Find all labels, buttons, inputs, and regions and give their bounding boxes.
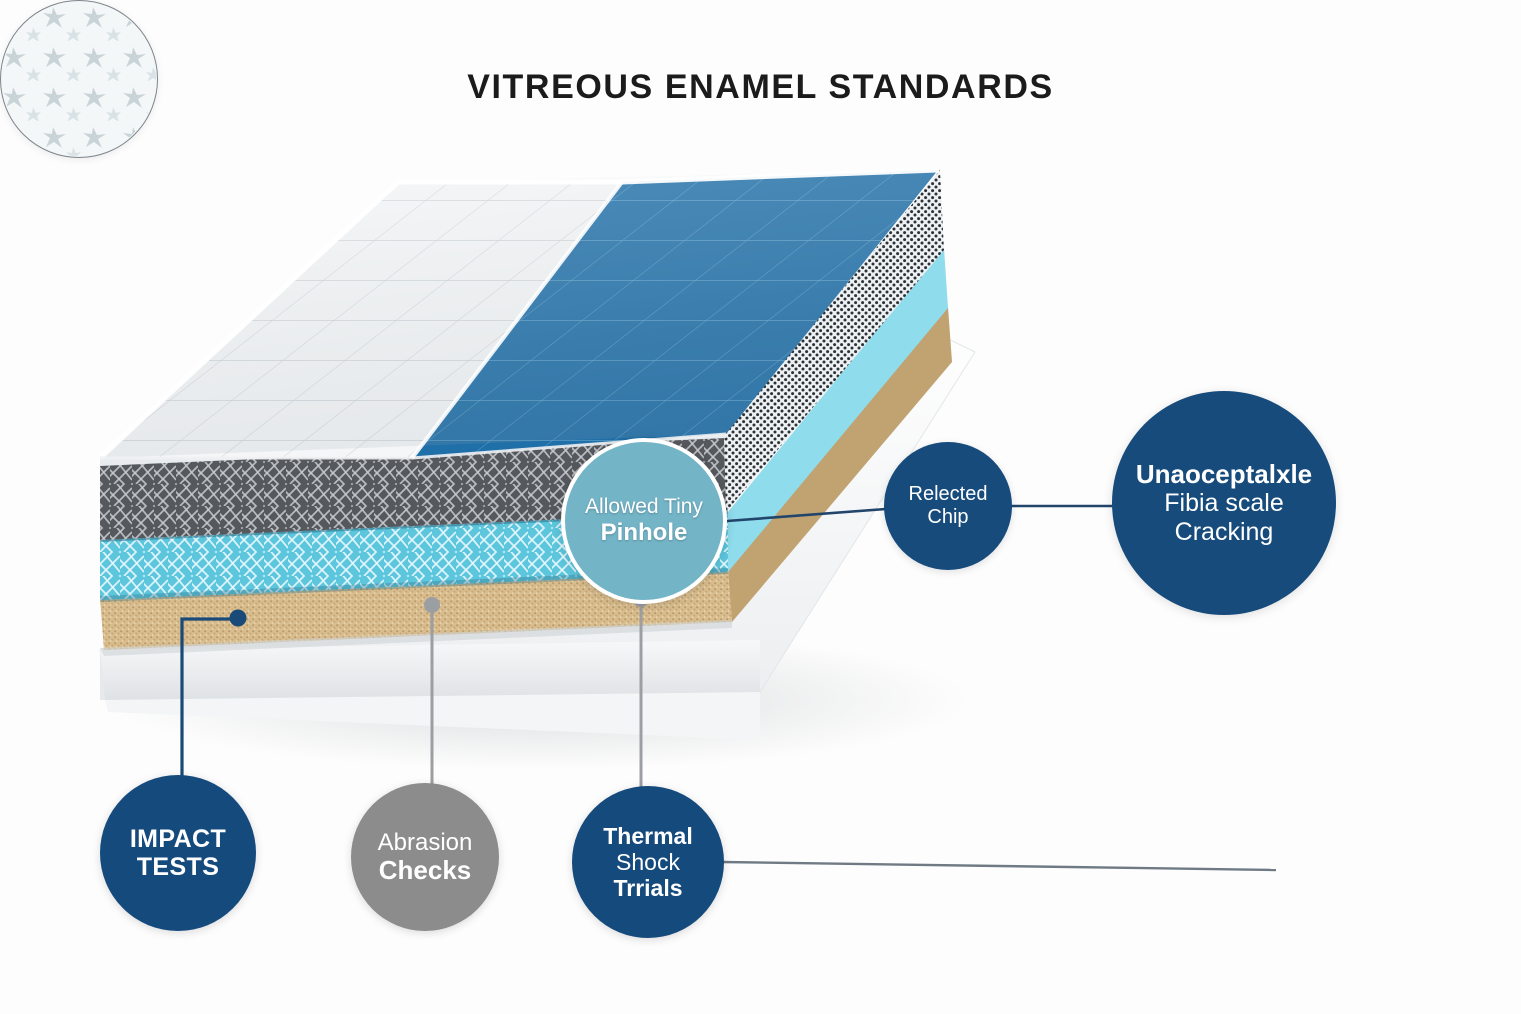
callout-line: Allowed Tiny	[585, 495, 703, 519]
leader-dot-impact	[230, 610, 247, 627]
callout-line: TESTS	[137, 853, 220, 882]
callout-rejected-chip[interactable]: Relected Chip	[884, 442, 1012, 570]
callout-line: Fibia scale	[1164, 489, 1284, 518]
callout-line: Abrasion	[378, 829, 473, 856]
callout-line: Relected	[909, 483, 988, 506]
leader-dot-abrasion	[424, 597, 440, 613]
callout-unacceptable-fish-scale-cracking[interactable]: Unaoceptalxle Fibia scale Cracking	[1112, 391, 1336, 615]
callout-line: Cracking	[1175, 518, 1274, 547]
callout-thermal-shock-trials[interactable]: Thermal Shock Trrials	[572, 786, 724, 938]
callout-line: Thermal	[603, 823, 692, 849]
callout-abrasion-checks[interactable]: Abrasion Checks	[351, 783, 499, 931]
callout-line: Trrials	[613, 875, 682, 901]
callout-line: Pinhole	[601, 519, 688, 546]
infographic-canvas: VITREOUS ENAMEL STANDARDS	[0, 0, 1521, 1014]
callout-line: Shock	[616, 849, 680, 875]
callout-impact-tests[interactable]: IMPACT TESTS	[100, 775, 256, 931]
callout-allowed-tiny-pinhole[interactable]: Allowed Tiny Pinhole	[561, 438, 727, 604]
callout-line: IMPACT	[130, 825, 226, 854]
callout-line: Chip	[927, 506, 968, 529]
leader-line-thermal-to-sample	[722, 862, 1276, 870]
callout-line: Checks	[379, 856, 472, 886]
callout-line: Unaoceptalxle	[1136, 460, 1312, 490]
